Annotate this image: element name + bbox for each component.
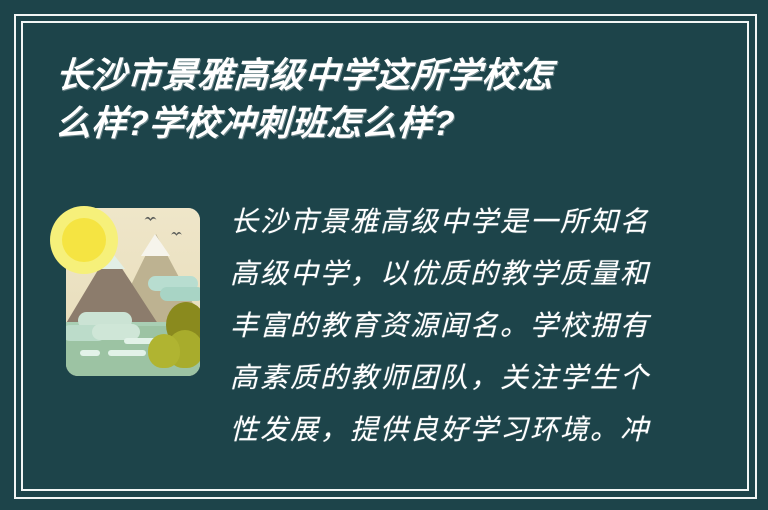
- body-line-4: 高素质的教师团队，关注学生个: [230, 352, 670, 404]
- illustration: [50, 200, 200, 380]
- water-streak: [108, 350, 146, 356]
- bird-icon: [144, 215, 157, 222]
- cloud-icon: [160, 287, 200, 301]
- content-row: 长沙市景雅高级中学是一所知名 高级中学，以优质的教学质量和 丰富的教育资源闻名。…: [0, 196, 768, 486]
- body-line-2: 高级中学，以优质的教学质量和: [230, 248, 670, 300]
- bush-front-left: [148, 334, 180, 368]
- title-line-2: 么样?学校冲刺班怎么样?: [55, 100, 658, 148]
- poster-root: 长沙市景雅高级中学这所学校怎 么样?学校冲刺班怎么样?: [0, 0, 768, 510]
- body-line-5: 性发展，提供良好学习环境。冲: [230, 404, 670, 456]
- sun-icon: [50, 206, 118, 274]
- body-text: 长沙市景雅高级中学是一所知名 高级中学，以优质的教学质量和 丰富的教育资源闻名。…: [230, 196, 670, 456]
- page-title: 长沙市景雅高级中学这所学校怎 么样?学校冲刺班怎么样?: [56, 52, 656, 148]
- water-streak: [80, 350, 100, 356]
- sun-core: [62, 218, 106, 262]
- title-line-1: 长沙市景雅高级中学这所学校怎: [55, 52, 658, 100]
- body-line-1: 长沙市景雅高级中学是一所知名: [230, 196, 670, 248]
- body-line-3: 丰富的教育资源闻名。学校拥有: [230, 300, 670, 352]
